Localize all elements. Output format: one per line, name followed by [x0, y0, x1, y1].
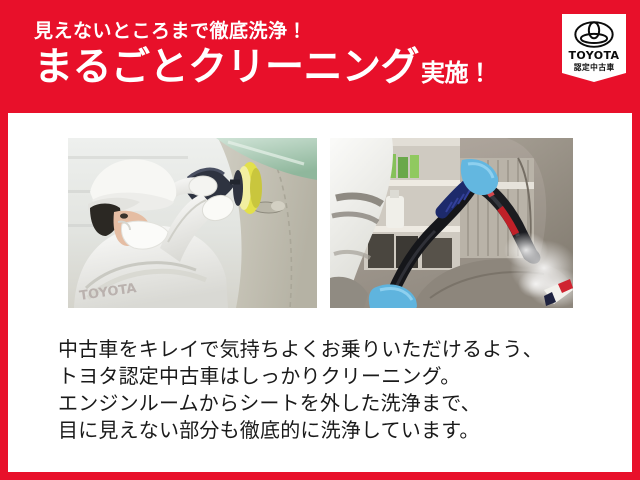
- badge-wordmark: TOYOTA: [569, 50, 620, 61]
- banner-header: 見えないところまで徹底洗浄！ まるごとクリーニング 実施！ TOYOTA 認定中…: [0, 0, 640, 113]
- headline-main: まるごとクリーニング: [34, 48, 419, 87]
- toyota-ellipse-logo-icon: [574, 21, 614, 48]
- body-line-4: 目に見えない部分も徹底的に洗浄しています。: [58, 417, 598, 444]
- headline-suffix: 実施！: [421, 61, 492, 87]
- photo-seat-steam-cleaning-art: [330, 138, 573, 308]
- body-copy: 中古車をキレイで気持ちよくお乗りいただけるよう、 トヨタ認定中古車はしっかりクリ…: [58, 336, 598, 444]
- cleaning-promo-banner: 見えないところまで徹底洗浄！ まるごとクリーニング 実施！ TOYOTA 認定中…: [0, 0, 640, 480]
- headline-kicker: 見えないところまで徹底洗浄！: [34, 21, 514, 43]
- headline-main-row: まるごとクリーニング 実施！: [34, 48, 514, 87]
- photo-seat-steam-cleaning: [330, 138, 573, 308]
- badge-subtitle: 認定中古車: [574, 64, 615, 72]
- photo-exterior-polishing: TOYOTA: [68, 138, 317, 308]
- body-line-3: エンジンルームからシートを外した洗浄まで、: [58, 390, 598, 417]
- headline-group: 見えないところまで徹底洗浄！ まるごとクリーニング 実施！: [34, 21, 514, 87]
- badge-ribbon: [562, 73, 626, 89]
- toyota-certified-used-car-badge: TOYOTA 認定中古車: [562, 14, 626, 89]
- photo-strip: TOYOTA: [8, 113, 632, 318]
- photo-exterior-polishing-art: TOYOTA: [68, 138, 317, 308]
- body-line-2: トヨタ認定中古車はしっかりクリーニング。: [58, 363, 598, 390]
- badge-ribbon-notch: [562, 73, 626, 82]
- body-line-1: 中古車をキレイで気持ちよくお乗りいただけるよう、: [58, 336, 598, 363]
